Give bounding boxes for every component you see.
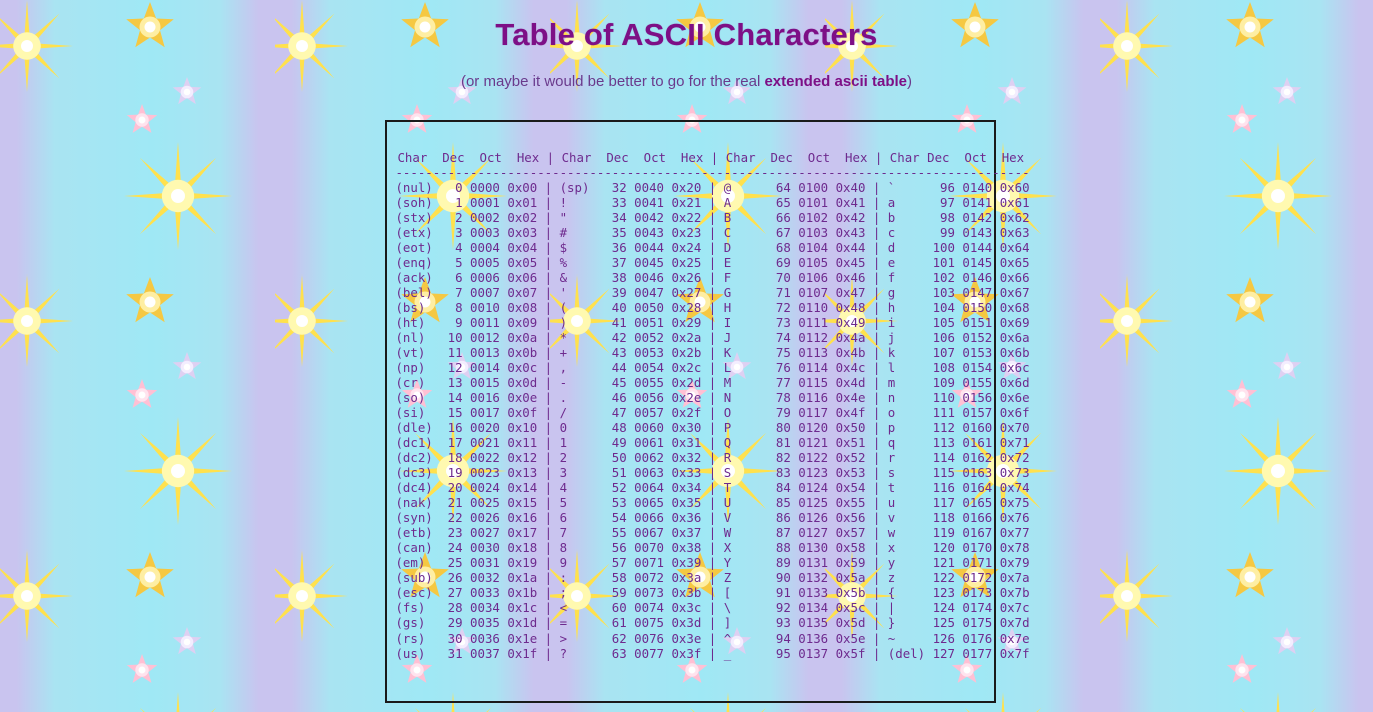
page-root: Table of ASCII Characters (or maybe it w… (0, 0, 1373, 712)
ascii-table-text: Char Dec Oct Hex | Char Dec Oct Hex | Ch… (387, 122, 994, 661)
subtitle-suffix-text: ) (907, 73, 912, 90)
page-title: Table of ASCII Characters (0, 0, 1373, 53)
subtitle: (or maybe it would be better to go for t… (0, 53, 1373, 90)
extended-ascii-table-link[interactable]: extended ascii table (764, 73, 907, 90)
subtitle-prefix-text: (or maybe it would be better to go for t… (461, 73, 765, 90)
ascii-table-box: Char Dec Oct Hex | Char Dec Oct Hex | Ch… (385, 120, 996, 703)
